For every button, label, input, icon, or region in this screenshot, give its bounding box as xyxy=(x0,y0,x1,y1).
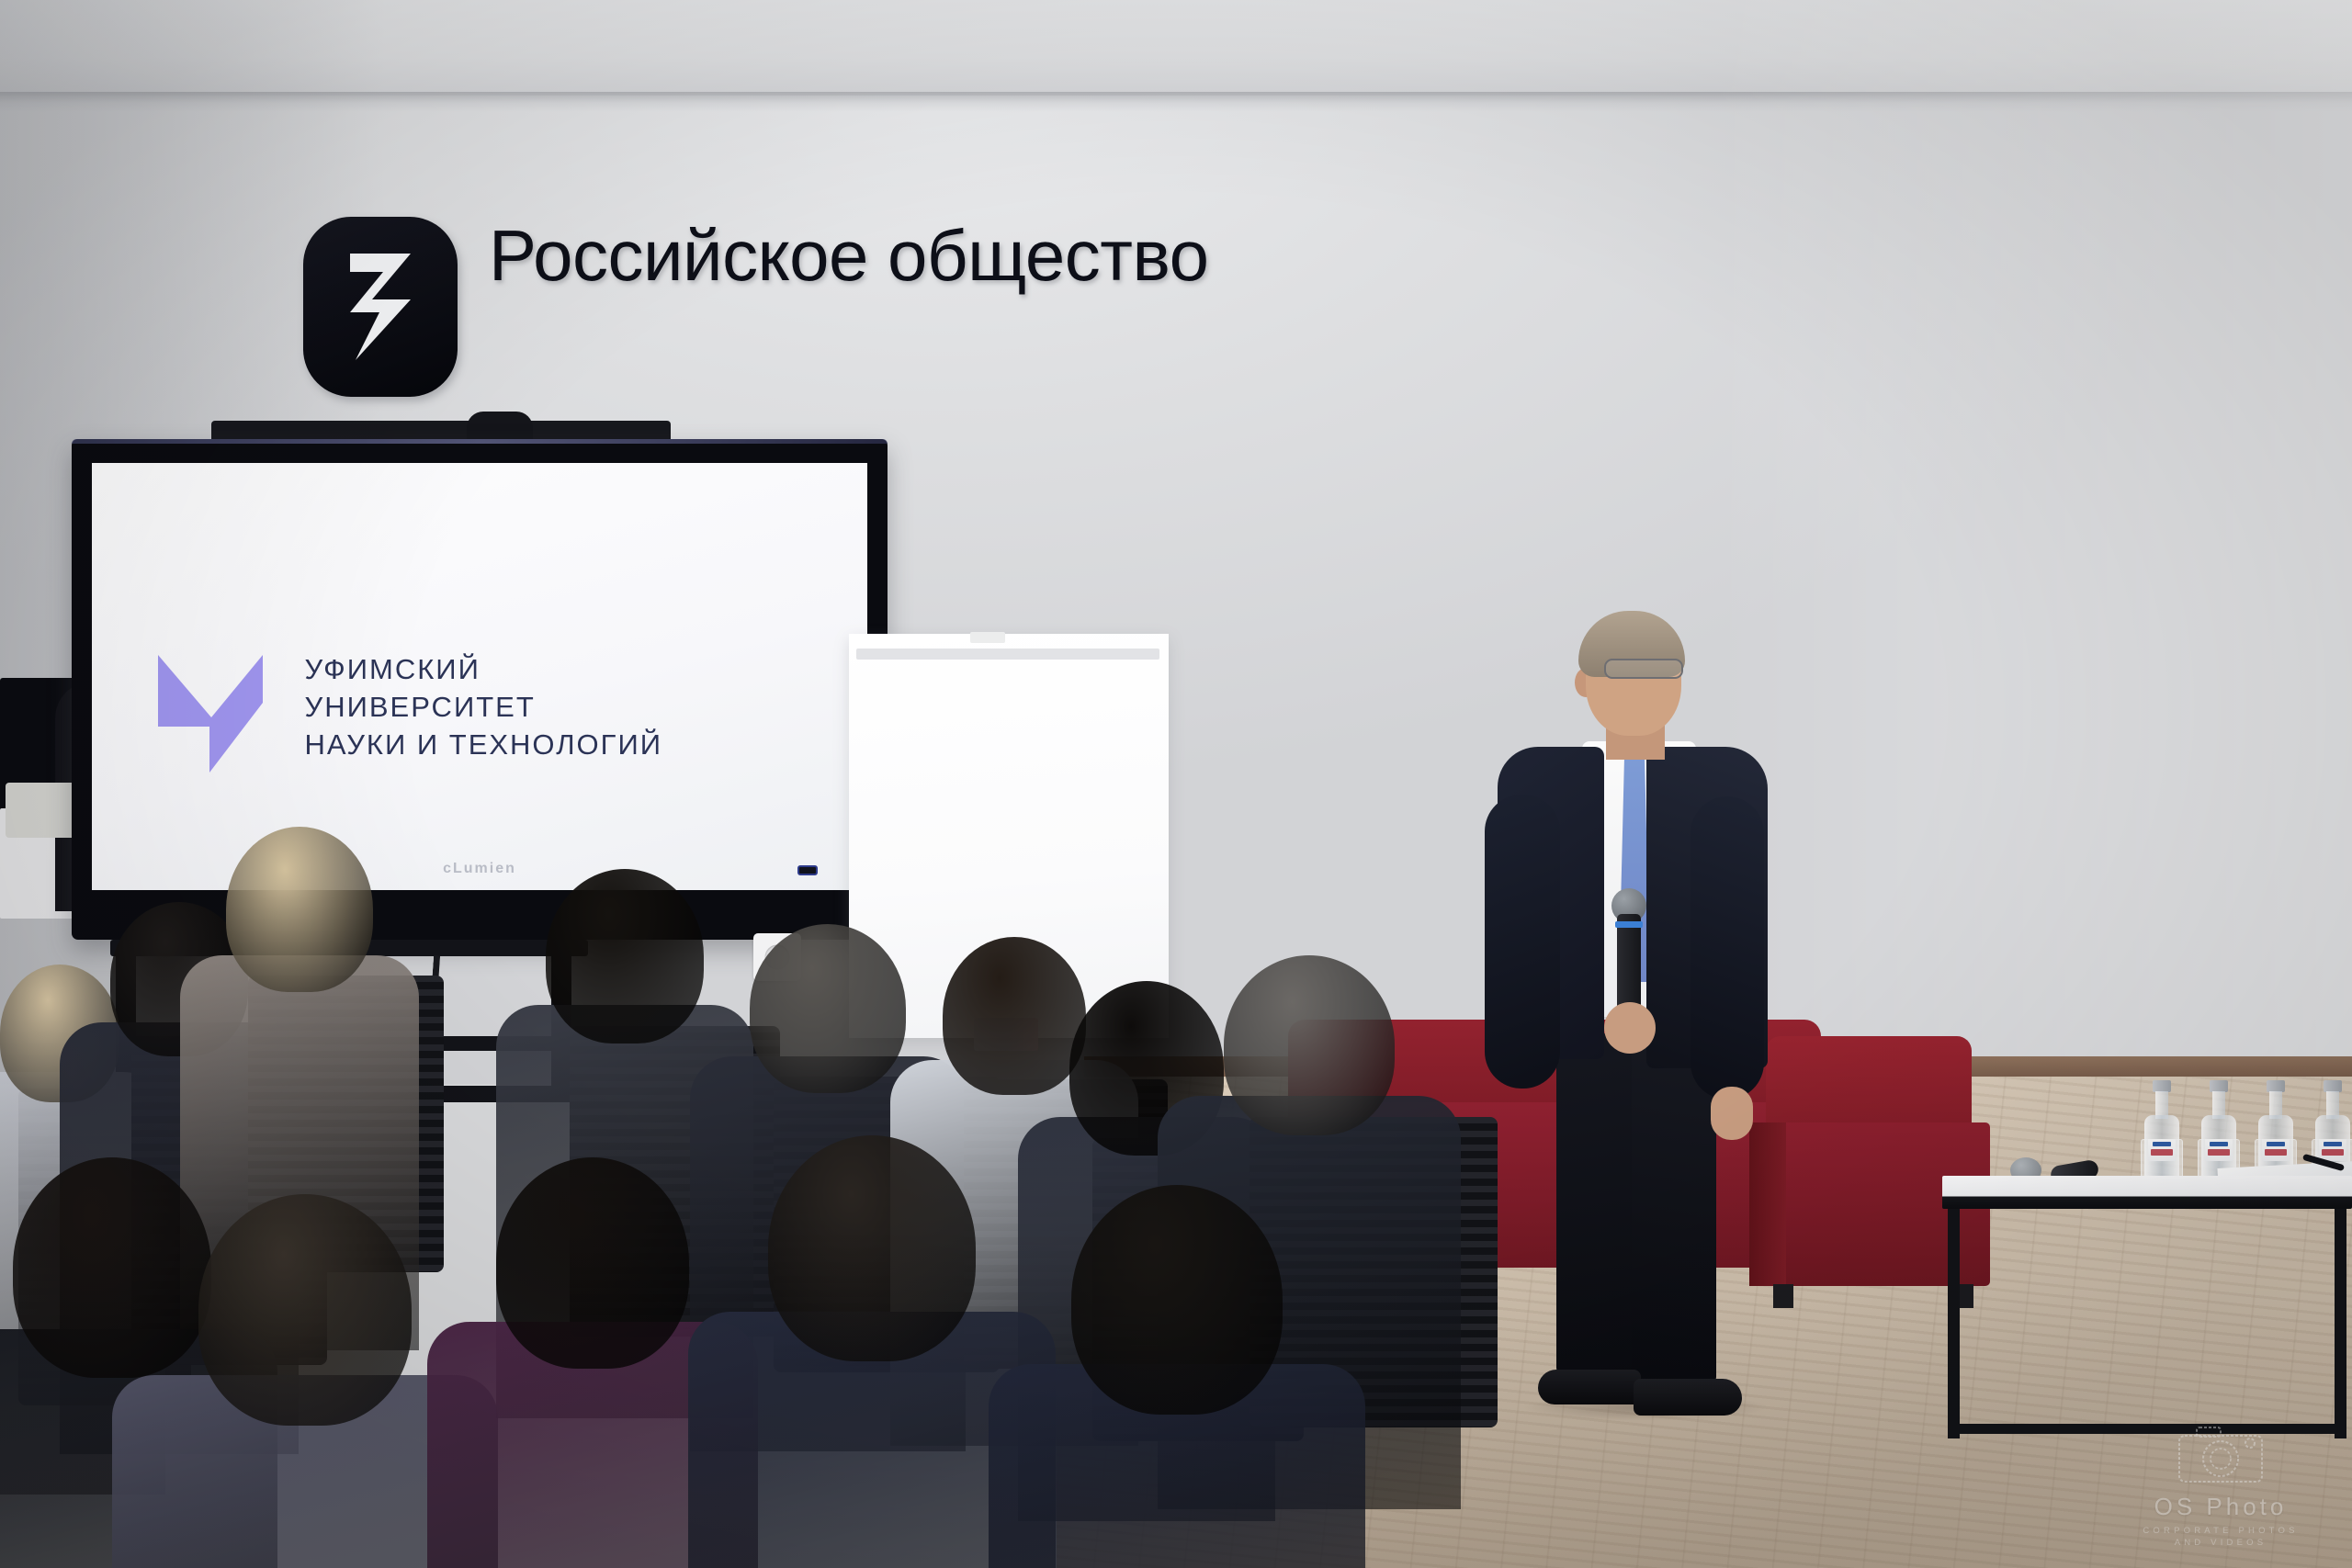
attendee-front-left-woman xyxy=(13,1157,211,1378)
attendee-front-purple xyxy=(496,1157,689,1369)
bottle-label xyxy=(2205,1139,2233,1161)
table-leg-right xyxy=(2335,1209,2346,1438)
znanie-society-logo-icon xyxy=(303,217,458,397)
display-camera-icon xyxy=(467,412,533,443)
wall-signage: Российское общество xyxy=(303,217,1208,397)
speaker-hand-holding-mic xyxy=(1604,1002,1656,1054)
table-top xyxy=(1942,1176,2352,1209)
attendee-woman-long-hair xyxy=(943,937,1086,1095)
speaker-trouser-left xyxy=(1556,1033,1635,1373)
water-bottle[interactable] xyxy=(2144,1080,2179,1183)
presentation-slide: УФИМСКИЙУНИВЕРСИТЕТНАУКИ И ТЕХНОЛОГИЙ xyxy=(154,638,663,776)
wall-signage-text: Российское общество xyxy=(489,217,1208,291)
attendee-man-gray-suit xyxy=(1224,955,1395,1135)
watermark-title: OS Photo xyxy=(2124,1493,2317,1521)
side-table xyxy=(1942,1176,2352,1451)
microphone-led-ring xyxy=(1615,921,1643,928)
speaker-arm-right xyxy=(1690,796,1764,1100)
bottle-label xyxy=(2148,1139,2176,1161)
watermark-subtitle-1: CORPORATE PHOTOS xyxy=(2124,1526,2317,1536)
slide-university-name: УФИМСКИЙУНИВЕРСИТЕТНАУКИ И ТЕХНОЛОГИЙ xyxy=(305,650,663,764)
attendee-older-woman xyxy=(226,827,373,992)
bottle-label xyxy=(2262,1139,2290,1161)
audience-area xyxy=(0,827,1507,1568)
attendee-front-right-man xyxy=(1071,1185,1283,1415)
speaker-person xyxy=(1466,602,1797,1428)
attendee-front-navy-man xyxy=(768,1135,976,1361)
speaker-hand-lowered xyxy=(1711,1087,1753,1140)
watermark-subtitle-2: AND VIDEOS xyxy=(2124,1538,2317,1548)
table-leg-left xyxy=(1948,1209,1960,1438)
flipchart-clamp xyxy=(856,649,1159,660)
wall-shading-right xyxy=(1709,0,2352,1084)
camera-icon xyxy=(2177,1421,2265,1487)
flipchart-top-tab xyxy=(970,632,1005,643)
ufa-university-logo-mark-icon xyxy=(154,638,268,776)
speaker-shoe-left xyxy=(1538,1370,1641,1404)
photographer-watermark: OS Photo CORPORATE PHOTOS AND VIDEOS xyxy=(2124,1421,2317,1548)
attendee-curly-woman xyxy=(546,869,704,1043)
bottle-label xyxy=(2319,1139,2346,1161)
eyeglasses-icon xyxy=(1604,659,1683,679)
attendee-man-gray xyxy=(750,924,906,1093)
photo-canvas: Российское общество УФИМСКИЙУНИВЕРСИТЕТН… xyxy=(0,0,2352,1568)
speaker-shoe-right xyxy=(1634,1379,1742,1416)
attendee-front-man-brown xyxy=(198,1194,412,1426)
